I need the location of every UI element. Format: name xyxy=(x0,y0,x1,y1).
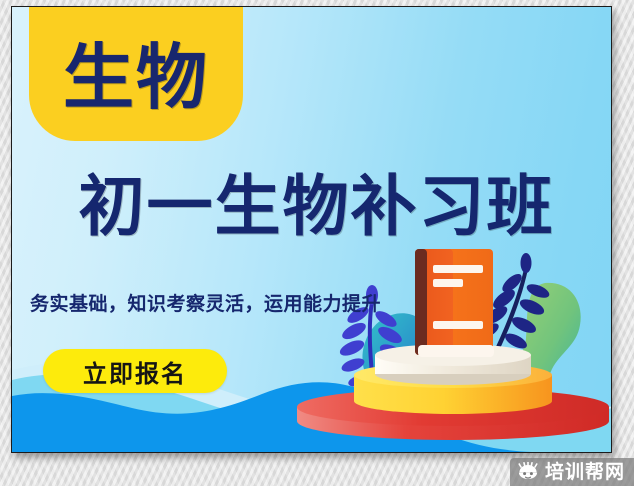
watermark: 培训帮网 xyxy=(510,458,634,486)
subtitle-text: 务实基础，知识考察灵活，运用能力提升 xyxy=(30,294,381,315)
banner-canvas: 生物 初一生物补习班 务实基础，知识考察灵活，运用能力提升 立即报名 xyxy=(12,7,611,452)
illustration-graphic xyxy=(292,249,611,452)
page-title: 初一生物补习班 xyxy=(24,174,609,240)
enroll-now-button-label: 立即报名 xyxy=(83,354,187,389)
subject-badge-label: 生物 xyxy=(63,42,209,113)
promo-banner: 生物 初一生物补习班 务实基础，知识考察灵活，运用能力提升 立即报名 xyxy=(11,6,612,453)
page-root: 生物 初一生物补习班 务实基础，知识考察灵活，运用能力提升 立即报名 xyxy=(0,0,634,486)
watermark-label: 培训帮网 xyxy=(545,463,625,482)
book-illustration xyxy=(415,249,494,357)
subject-badge: 生物 xyxy=(29,7,243,141)
enroll-now-button[interactable]: 立即报名 xyxy=(43,349,227,393)
book-podium-illustration xyxy=(292,249,611,452)
sun-face-logo-icon xyxy=(517,462,539,482)
